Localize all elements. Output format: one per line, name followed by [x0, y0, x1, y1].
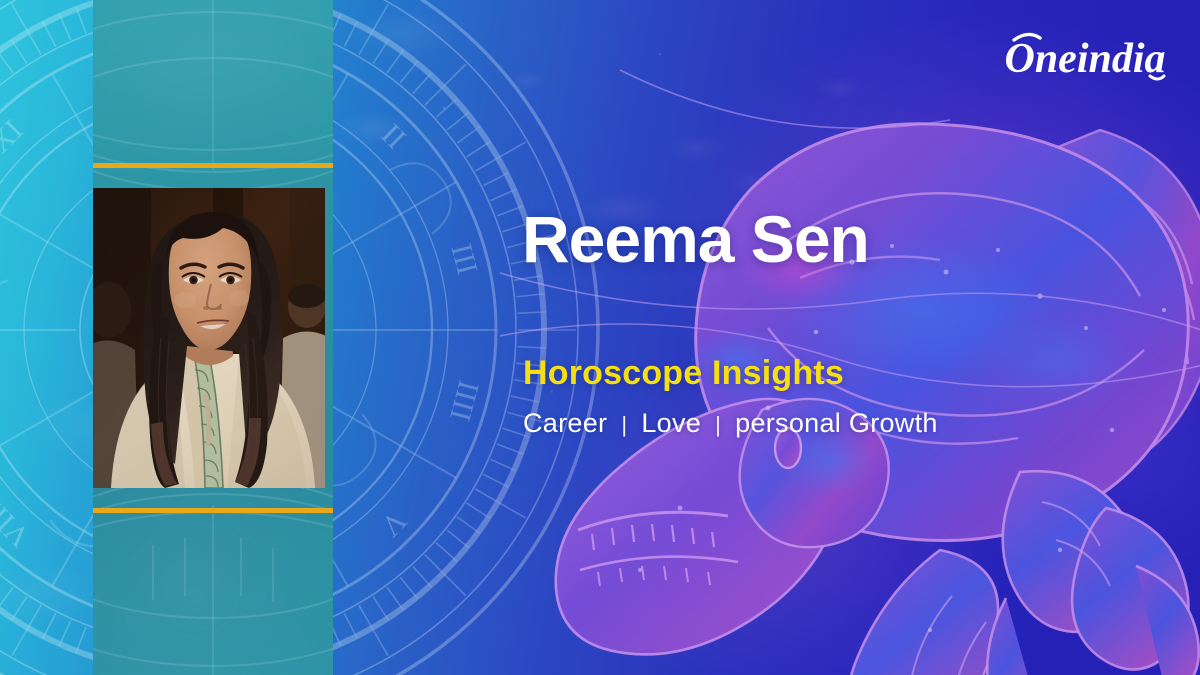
tagline-separator-2: |	[701, 412, 735, 438]
tagline: Career | Love | personal Growth	[523, 408, 938, 439]
svg-text:Oneindia: Oneindia	[1004, 36, 1165, 82]
oneindia-logo[interactable]: Oneindia	[1000, 26, 1170, 88]
tagline-item-love: Love	[641, 408, 701, 439]
accent-line-bottom	[93, 508, 333, 513]
accent-line-top	[93, 163, 333, 168]
banner-canvas: IIIIIIIIIIVVIVIIVIIIIXXXIXII	[0, 0, 1200, 675]
subject-photo	[93, 188, 325, 488]
page-title: Reema Sen	[522, 205, 869, 274]
tagline-item-personal-growth: personal Growth	[735, 408, 938, 439]
subtitle: Horoscope Insights	[523, 354, 844, 393]
portrait-panel	[93, 0, 333, 675]
tagline-item-career: Career	[523, 408, 607, 439]
tagline-separator-1: |	[607, 412, 641, 438]
